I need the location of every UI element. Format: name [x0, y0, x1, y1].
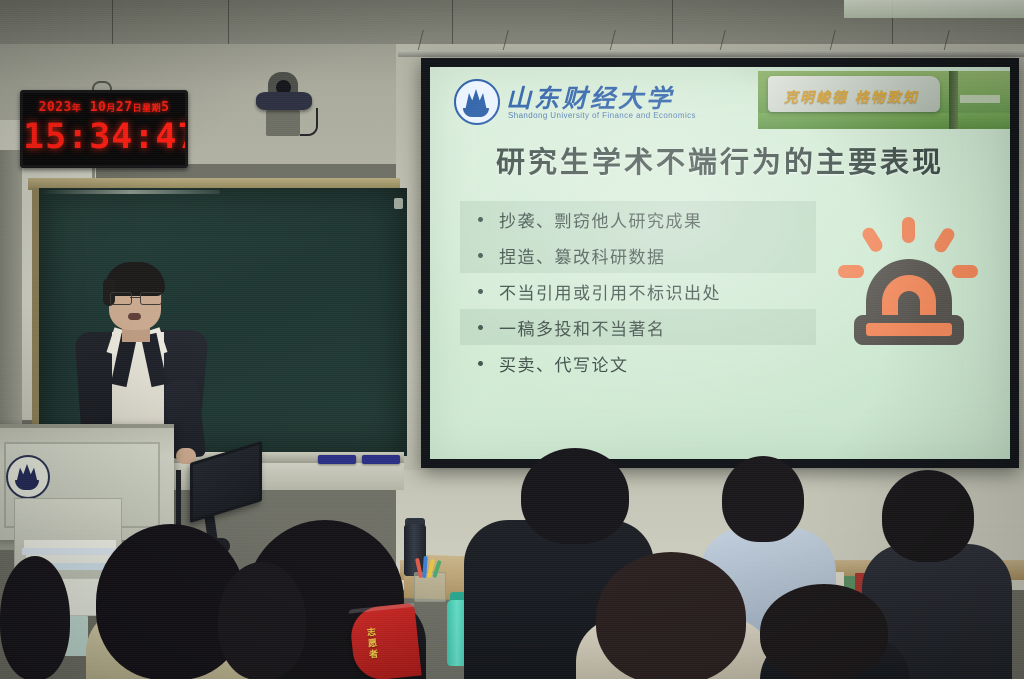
blackboard-mark	[394, 198, 403, 209]
bullet-text: 捏造、篡改科研数据	[499, 243, 666, 268]
slide-title: 研究生学术不端行为的主要表现	[430, 139, 1010, 181]
campus-banner-photo: 克明峻德 格物致知	[758, 71, 1010, 129]
clock-year-unit: 年	[72, 104, 82, 114]
shandong-university-logo-icon	[454, 79, 500, 125]
bullet-dot-icon	[478, 289, 483, 294]
clock-month: 10	[90, 100, 107, 115]
lecture-hall-screenshot: 2023年 10月27日星期5 15:34:47 山东财经大学 Shandong…	[0, 0, 1024, 679]
audience-member-head	[596, 552, 746, 679]
clock-day-unit: 日	[133, 104, 143, 114]
chalk-dust-smear	[40, 190, 220, 194]
list-item: 不当引用或引用不标识出处	[460, 273, 816, 309]
clock-day: 27	[116, 100, 133, 115]
alarm-siren-icon	[832, 215, 984, 343]
audience-member-head	[0, 556, 70, 679]
glasses-lens-right	[140, 292, 162, 305]
slide-header: 山东财经大学 Shandong University of Finance an…	[430, 67, 1010, 131]
volunteer-sash: 志愿者	[348, 603, 421, 679]
blackboard-eraser[interactable]	[362, 455, 400, 464]
sash-text: 志愿者	[364, 627, 380, 661]
bullet-text: 抄袭、剽窃他人研究成果	[499, 207, 703, 232]
audience-member-head	[722, 456, 804, 542]
clock-time: 15:34:47	[23, 117, 185, 157]
glasses-lens-left	[110, 292, 132, 305]
blackboard-eraser[interactable]	[318, 455, 356, 464]
university-name-en: Shandong University of Finance and Econo…	[508, 111, 696, 120]
left-wall-shadow	[0, 150, 22, 430]
audience-member-head	[760, 584, 888, 679]
presentation-slide: 山东财经大学 Shandong University of Finance an…	[430, 67, 1010, 459]
projection-screen-rail	[398, 50, 1024, 57]
bullet-dot-icon	[478, 217, 483, 222]
audience-member-head	[882, 470, 974, 562]
university-emblem-icon	[6, 455, 50, 499]
clock-year: 2023	[39, 100, 72, 115]
projection-screen: 山东财经大学 Shandong University of Finance an…	[421, 58, 1019, 468]
camera-mount	[266, 110, 300, 136]
speaker-mouth	[128, 313, 141, 320]
bullet-text: 买卖、代写论文	[499, 351, 629, 376]
university-name-cn: 山东财经大学	[506, 79, 674, 115]
ceiling-light-fixture	[844, 0, 1024, 18]
slide-bullet-list: 抄袭、剽窃他人研究成果 捏造、篡改科研数据 不当引用或引用不标识出处 一稿多投和…	[460, 201, 816, 381]
list-item: 捏造、篡改科研数据	[460, 237, 816, 273]
ceiling-seam	[112, 0, 113, 48]
list-item: 抄袭、剽窃他人研究成果	[460, 201, 816, 237]
banner-grass	[758, 113, 1010, 129]
audience-member-head	[521, 448, 629, 544]
speaker-glasses-icon	[110, 292, 160, 303]
banner-path	[960, 95, 1000, 103]
ceiling-seam	[452, 0, 453, 48]
clock-date-line: 2023年 10月27日星期5	[23, 100, 185, 115]
bullet-dot-icon	[478, 325, 483, 330]
led-wall-clock: 2023年 10月27日星期5 15:34:47	[20, 90, 188, 168]
clock-month-unit: 月	[106, 104, 116, 114]
camera-cable	[300, 108, 318, 136]
banner-tree	[949, 71, 958, 129]
siren-stripe	[866, 323, 952, 336]
bullet-dot-icon	[478, 361, 483, 366]
list-item: 买卖、代写论文	[460, 345, 816, 381]
clock-weekday-value: 5	[161, 100, 169, 115]
ceiling-seam	[672, 0, 673, 48]
list-item: 一稿多投和不当著名	[460, 309, 816, 345]
bullet-text: 一稿多投和不当著名	[499, 315, 666, 340]
clock-weekday-label: 星期	[142, 104, 161, 114]
bullet-text: 不当引用或引用不标识出处	[499, 279, 721, 304]
audience-member-head	[218, 562, 306, 679]
ceiling-seam	[228, 0, 229, 48]
paper-stack	[24, 540, 116, 548]
banner-stone-monument: 克明峻德 格物致知	[768, 76, 940, 112]
bullet-dot-icon	[478, 253, 483, 258]
paper-stack	[22, 548, 118, 555]
banner-motto-text: 克明峻德 格物致知	[784, 87, 919, 107]
glasses-bridge	[130, 297, 140, 298]
